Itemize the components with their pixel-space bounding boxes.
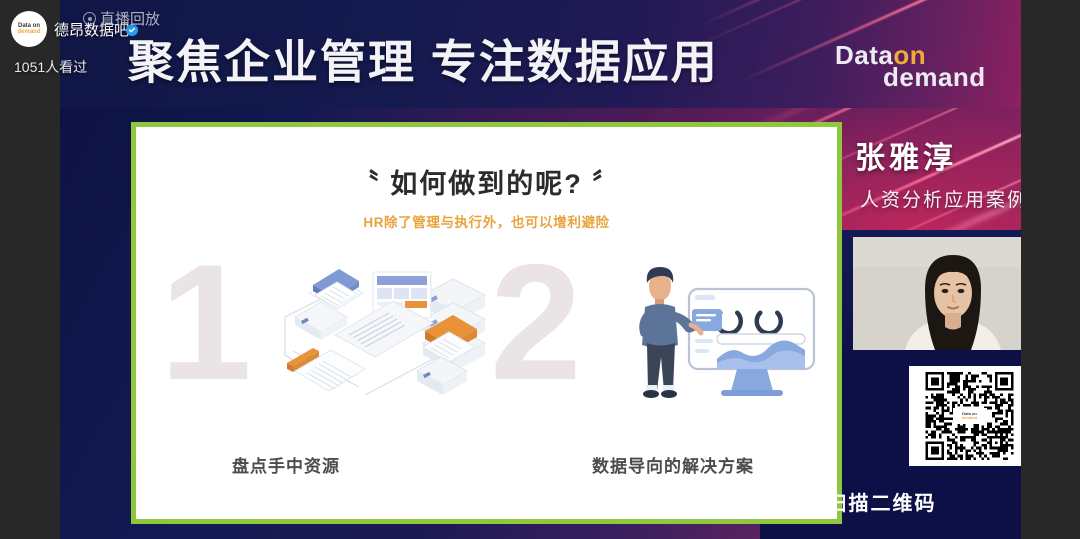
speaker-name: 张雅淳 [855, 133, 957, 177]
replay-circle-icon [83, 12, 96, 25]
replay-badge-label: 直播回放 [100, 8, 160, 29]
channel-overlay: Data on demand 德昂数据吧 1051人看过 直播回放 [0, 0, 230, 90]
brand-logo-demand: demand [883, 64, 986, 90]
letterbox-right [1021, 0, 1080, 539]
avatar-logo-line1: Data on [18, 23, 40, 29]
slide-heading: 〝 如何做到的呢? 〞 [136, 162, 837, 201]
brand-logo: Dataon demand [835, 42, 986, 90]
isometric-laptop-documents-servers-icon [273, 255, 488, 430]
qr-code[interactable]: Data on demand [909, 366, 1021, 466]
screen-root: 聚焦企业管理 专注数据应用 Dataon demand 〝 如何做到的呢? 〞 … [0, 0, 1080, 539]
person-with-dashboard-monitor-icon [609, 257, 824, 432]
slide-item-1-label: 盘点手中资源 [232, 452, 340, 477]
speaker-topic: 人资分析应用案例 [860, 185, 1021, 212]
slide-item-2-label: 数据导向的解决方案 [592, 452, 754, 477]
slide-item-1-number: 1 [160, 247, 248, 399]
avatar-logo-line2: demand [17, 29, 40, 35]
slide-items: 1 [136, 247, 837, 487]
viewer-count: 1051人看过 [14, 57, 87, 77]
presenter-webcam[interactable] [853, 237, 1021, 350]
presentation-slide: 〝 如何做到的呢? 〞 HR除了管理与执行外，也可以增利避险 1 [131, 122, 842, 524]
slide-subtitle: HR除了管理与执行外，也可以增利避险 [136, 211, 837, 231]
qr-logo-line2: demand [962, 415, 977, 420]
slide-item-1: 1 [154, 247, 494, 487]
qr-caption: 请扫描二维码 [60, 487, 1021, 516]
slide-item-2-number: 2 [490, 247, 578, 399]
replay-badge[interactable]: 直播回放 [83, 8, 160, 29]
avatar[interactable]: Data on demand [11, 11, 47, 47]
slide-item-2: 2 [484, 247, 824, 487]
avatar-logo: Data on demand [17, 23, 40, 36]
qr-center-logo: Data on demand [953, 408, 987, 424]
